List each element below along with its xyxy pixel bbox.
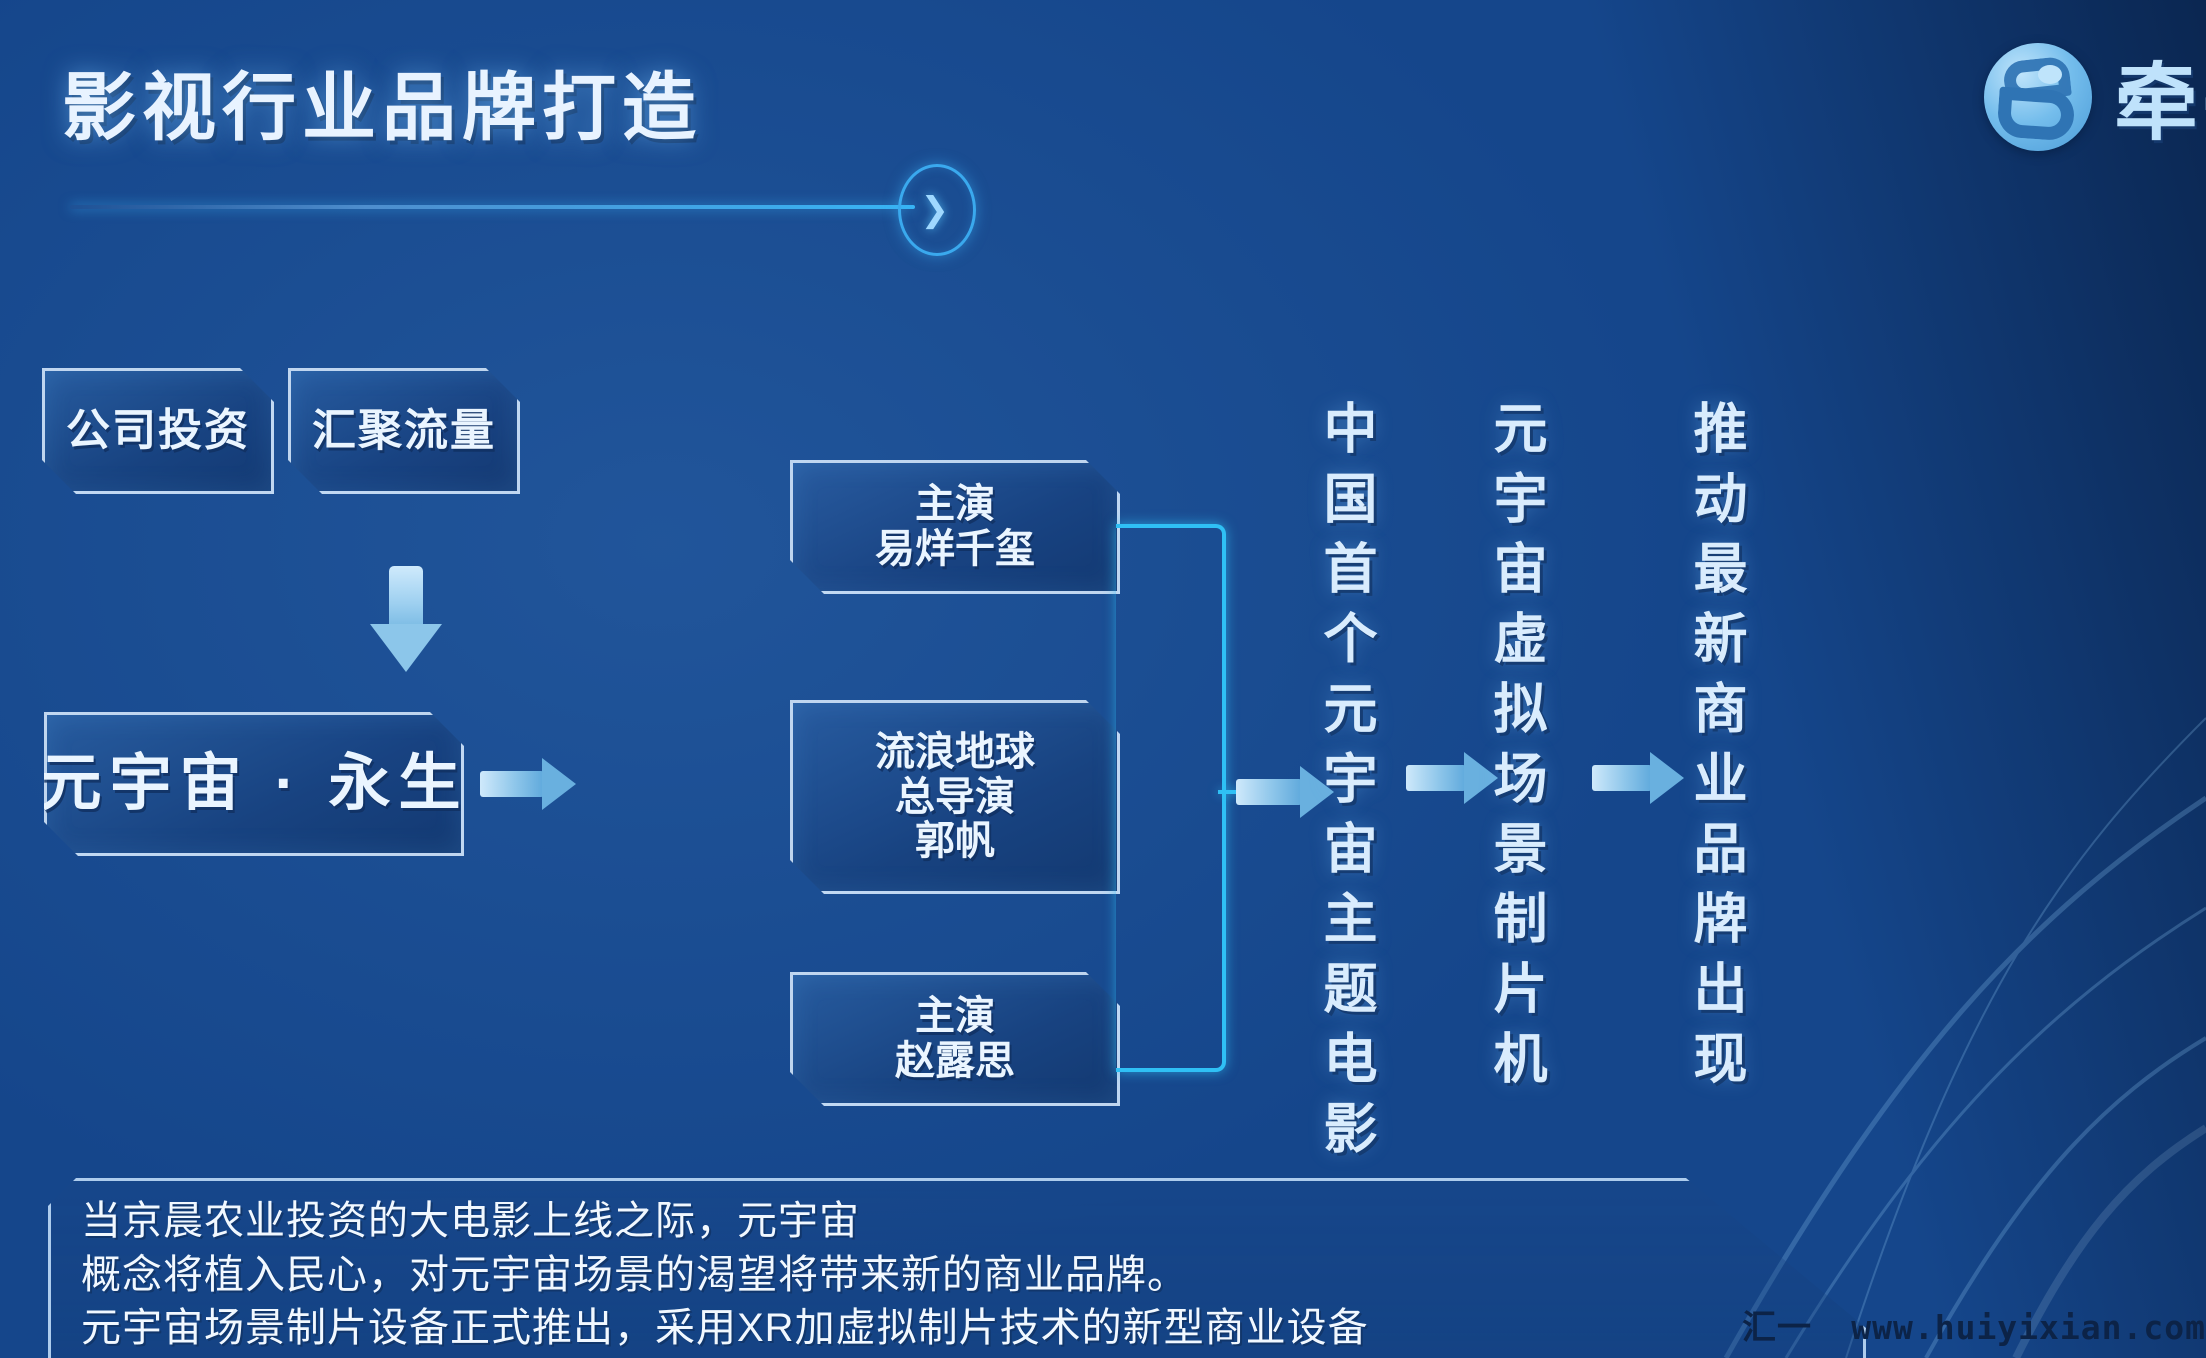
arrow-right-icon-project-to-cast bbox=[480, 758, 576, 810]
card-line: 主演 bbox=[915, 994, 995, 1039]
card-line: 郭帆 bbox=[915, 819, 995, 864]
bracket-connector-icon bbox=[1116, 524, 1226, 1072]
circular-wave-figure-logo-icon bbox=[1984, 43, 2092, 151]
title-underline bbox=[70, 205, 915, 209]
caption-line: 概念将植入民心，对元宇宙场景的渴望将带来新的商业品牌。 bbox=[81, 1249, 1863, 1303]
card-project-metaverse-eternal-life[interactable]: 元宇宙 · 永生 bbox=[44, 712, 464, 856]
card-aggregate-traffic[interactable]: 汇聚流量 bbox=[288, 368, 520, 494]
card-cast-director[interactable]: 流浪地球 总导演 郭帆 bbox=[790, 700, 1120, 894]
watermark: 汇一线首码网 www.huiyixian.com bbox=[1742, 1300, 2206, 1358]
card-cast-lead-actor-2[interactable]: 主演 赵露思 bbox=[790, 972, 1120, 1106]
card-line: 易烊千玺 bbox=[875, 527, 1035, 572]
stage-text-virtual-scene-machine: 元宇宙虚拟场景制片机 bbox=[1488, 400, 1542, 1100]
brand-logo: 牵· bbox=[1984, 36, 2206, 157]
brand-logo-text: 牵· bbox=[2114, 36, 2206, 157]
stage-text-new-commercial-brand: 推动最新商业品牌出现 bbox=[1688, 400, 1742, 1100]
card-label: 元宇宙 · 永生 bbox=[39, 749, 468, 818]
card-line: 流浪地球 bbox=[875, 730, 1035, 775]
watermark-name: 汇一线首码网 bbox=[1742, 1300, 1833, 1358]
card-label: 汇聚流量 bbox=[312, 406, 496, 455]
watermark-url: www.huiyixian.com bbox=[1851, 1308, 2206, 1347]
card-line: 赵露思 bbox=[895, 1039, 1015, 1084]
card-company-investment[interactable]: 公司投资 bbox=[42, 368, 274, 494]
caption-line: 元宇宙场景制片设备正式推出，采用XR加虚拟制片技术的新型商业设备 bbox=[81, 1302, 1863, 1356]
caption-panel: 当京晨农业投资的大电影上线之际，元宇宙 概念将植入民心，对元宇宙场景的渴望将带来… bbox=[48, 1178, 1866, 1358]
arrow-down-icon bbox=[370, 566, 442, 672]
chevron-right-icon[interactable]: ❯ bbox=[898, 164, 976, 256]
slide-canvas: 影视行业品牌打造 ❯ 牵· 公司投资 汇聚流量 元宇宙 · 永生 主演 易烊千玺… bbox=[0, 0, 2206, 1358]
card-line: 总导演 bbox=[895, 775, 1015, 820]
card-cast-lead-actor-1[interactable]: 主演 易烊千玺 bbox=[790, 460, 1120, 594]
stage-text-first-metaverse-movie: 中国首个元宇宙主题电影 bbox=[1318, 400, 1372, 1170]
card-line: 主演 bbox=[915, 482, 995, 527]
card-label: 公司投资 bbox=[66, 406, 250, 455]
page-title: 影视行业品牌打造 bbox=[62, 48, 702, 155]
arrow-right-icon-stage2-to-stage3 bbox=[1592, 752, 1684, 804]
caption-line: 当京晨农业投资的大电影上线之际，元宇宙 bbox=[81, 1195, 1863, 1249]
